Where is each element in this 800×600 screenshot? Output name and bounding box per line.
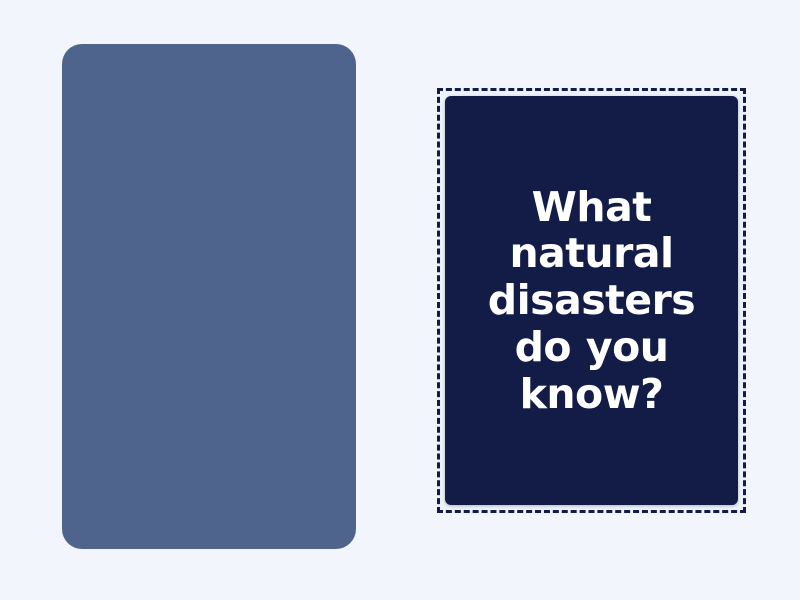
flashcard-question-text: What natural disasters do you know? — [461, 184, 722, 418]
active-card-selection-outline[interactable]: What natural disasters do you know? — [437, 88, 746, 513]
card-deck[interactable] — [62, 44, 356, 549]
active-flashcard[interactable]: What natural disasters do you know? — [445, 96, 738, 505]
flashcard-stage: What natural disasters do you know? — [0, 0, 800, 600]
deck-top-card[interactable] — [62, 44, 356, 459]
